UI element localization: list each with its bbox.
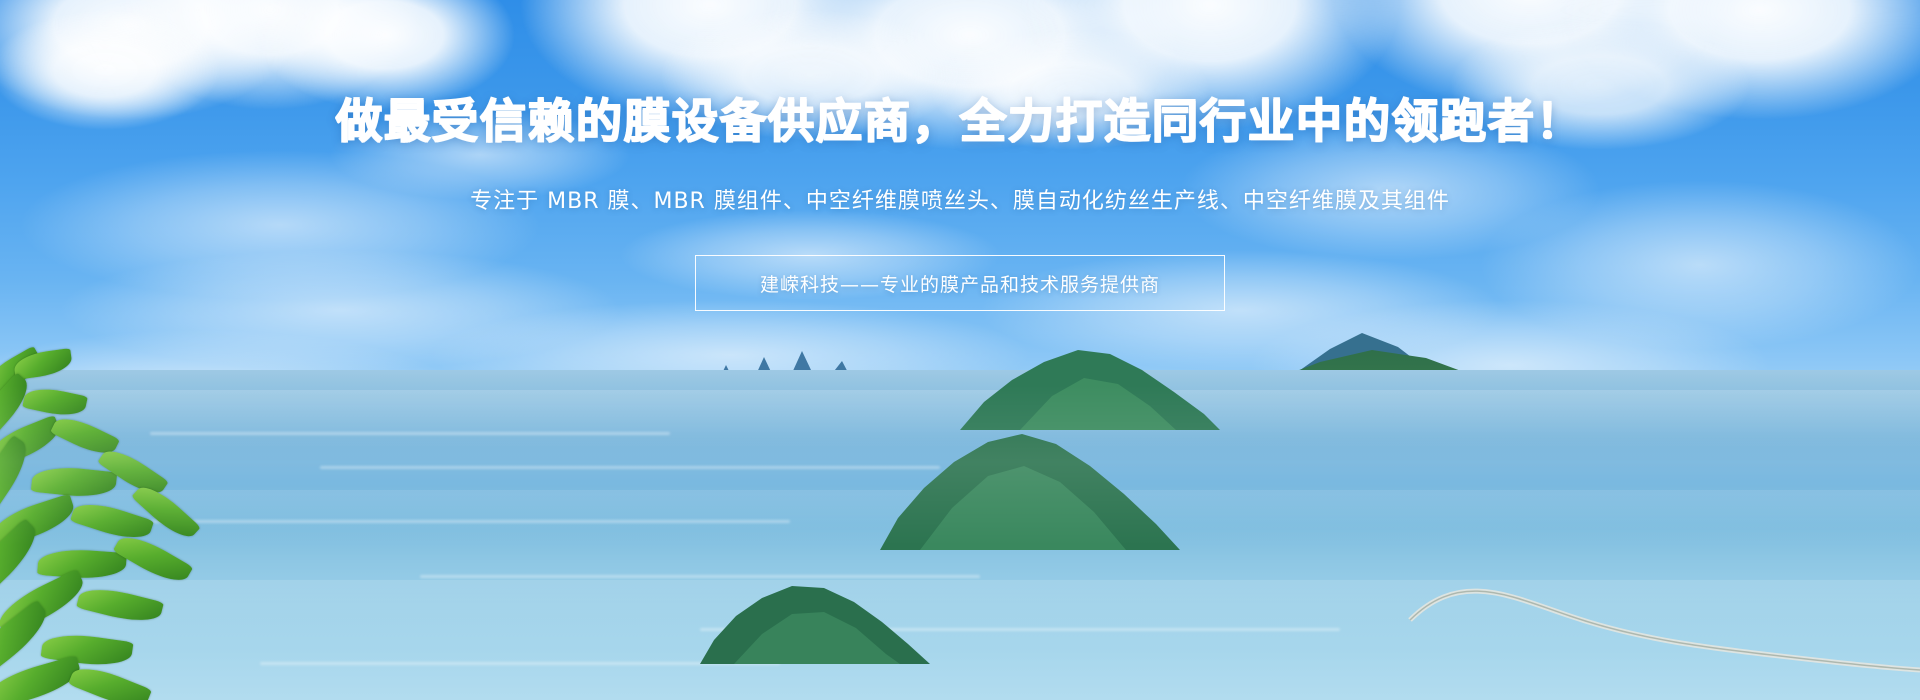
banner-subheadline: 专注于 MBR 膜、MBR 膜组件、中空纤维膜喷丝头、膜自动化纺丝生产线、中空纤… bbox=[0, 147, 1920, 218]
lake-water bbox=[0, 370, 1920, 700]
water-streak bbox=[420, 575, 980, 578]
water-streak bbox=[320, 466, 940, 469]
water-sheen bbox=[0, 580, 1920, 650]
water-sheen bbox=[0, 390, 1920, 450]
foreground-leaf-branch bbox=[0, 350, 240, 700]
banner-headline: 做最受信赖的膜设备供应商，全力打造同行业中的领跑者！ bbox=[0, 0, 1920, 147]
water-streak bbox=[700, 628, 1340, 631]
water-streak bbox=[260, 662, 780, 665]
hero-banner: 做最受信赖的膜设备供应商，全力打造同行业中的领跑者！ 专注于 MBR 膜、MBR… bbox=[0, 0, 1920, 700]
banner-tagline: 建嵘科技——专业的膜产品和技术服务提供商 bbox=[760, 270, 1160, 297]
water-sheen bbox=[0, 490, 1920, 530]
banner-copy: 做最受信赖的膜设备供应商，全力打造同行业中的领跑者！ 专注于 MBR 膜、MBR… bbox=[0, 0, 1920, 311]
tagline-box: 建嵘科技——专业的膜产品和技术服务提供商 bbox=[695, 255, 1225, 311]
